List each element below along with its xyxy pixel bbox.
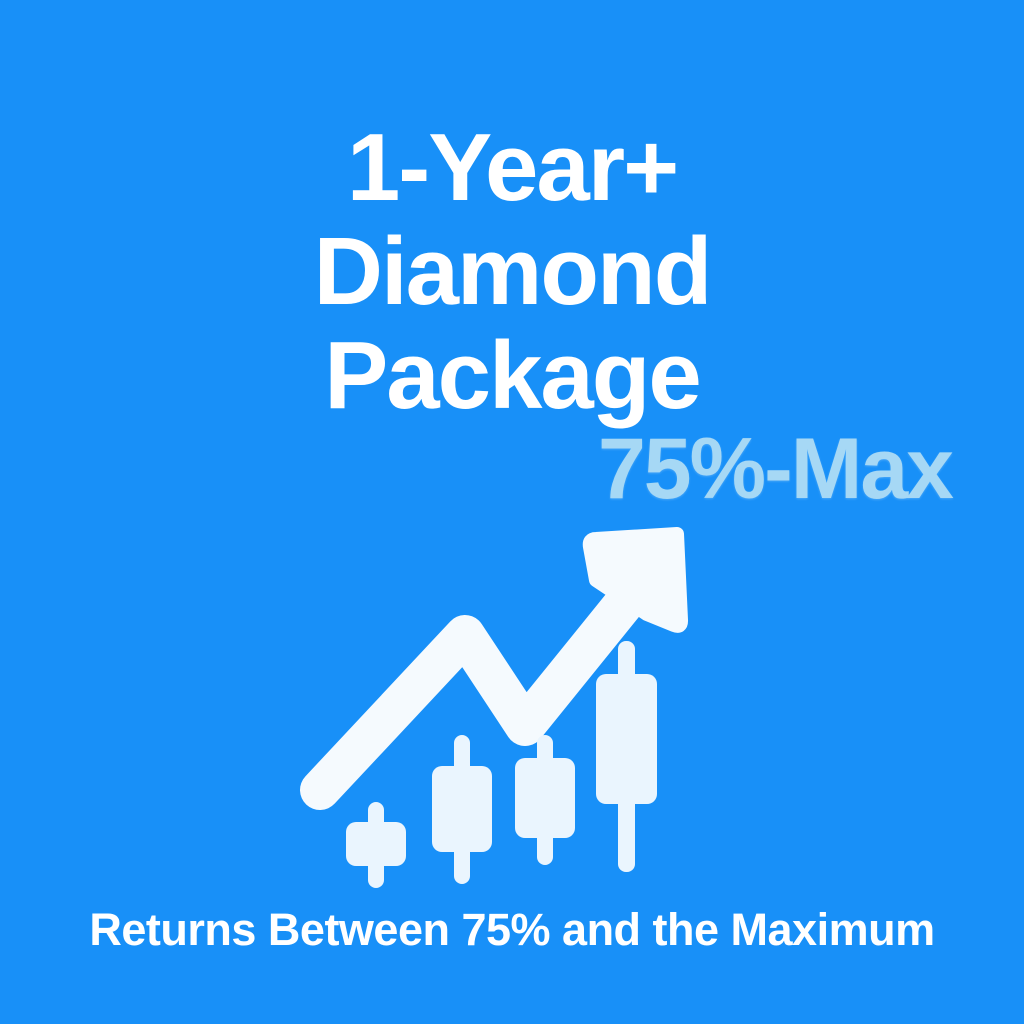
return-range-highlight: 75%-Max: [598, 421, 952, 517]
headline-line-1: 1-Year+: [0, 116, 1024, 220]
candle-1-body: [346, 822, 406, 866]
candle-3-body: [515, 758, 575, 838]
candle-2: [432, 735, 492, 884]
candle-4-body: [596, 674, 657, 804]
headline-line-2: Diamond: [0, 220, 1024, 324]
chart-svg: [296, 516, 708, 902]
page-title: 1-Year+ Diamond Package: [0, 116, 1024, 428]
caption-text: Returns Between 75% and the Maximum: [0, 902, 1024, 958]
candle-2-body: [432, 766, 492, 852]
promo-card: 1-Year+ Diamond Package 75%-Max: [0, 0, 1024, 1024]
candle-3: [515, 735, 575, 865]
candle-1: [346, 802, 406, 888]
growth-candlestick-chart: [296, 516, 708, 902]
candle-4: [596, 641, 657, 872]
headline-line-3: Package: [0, 324, 1024, 428]
